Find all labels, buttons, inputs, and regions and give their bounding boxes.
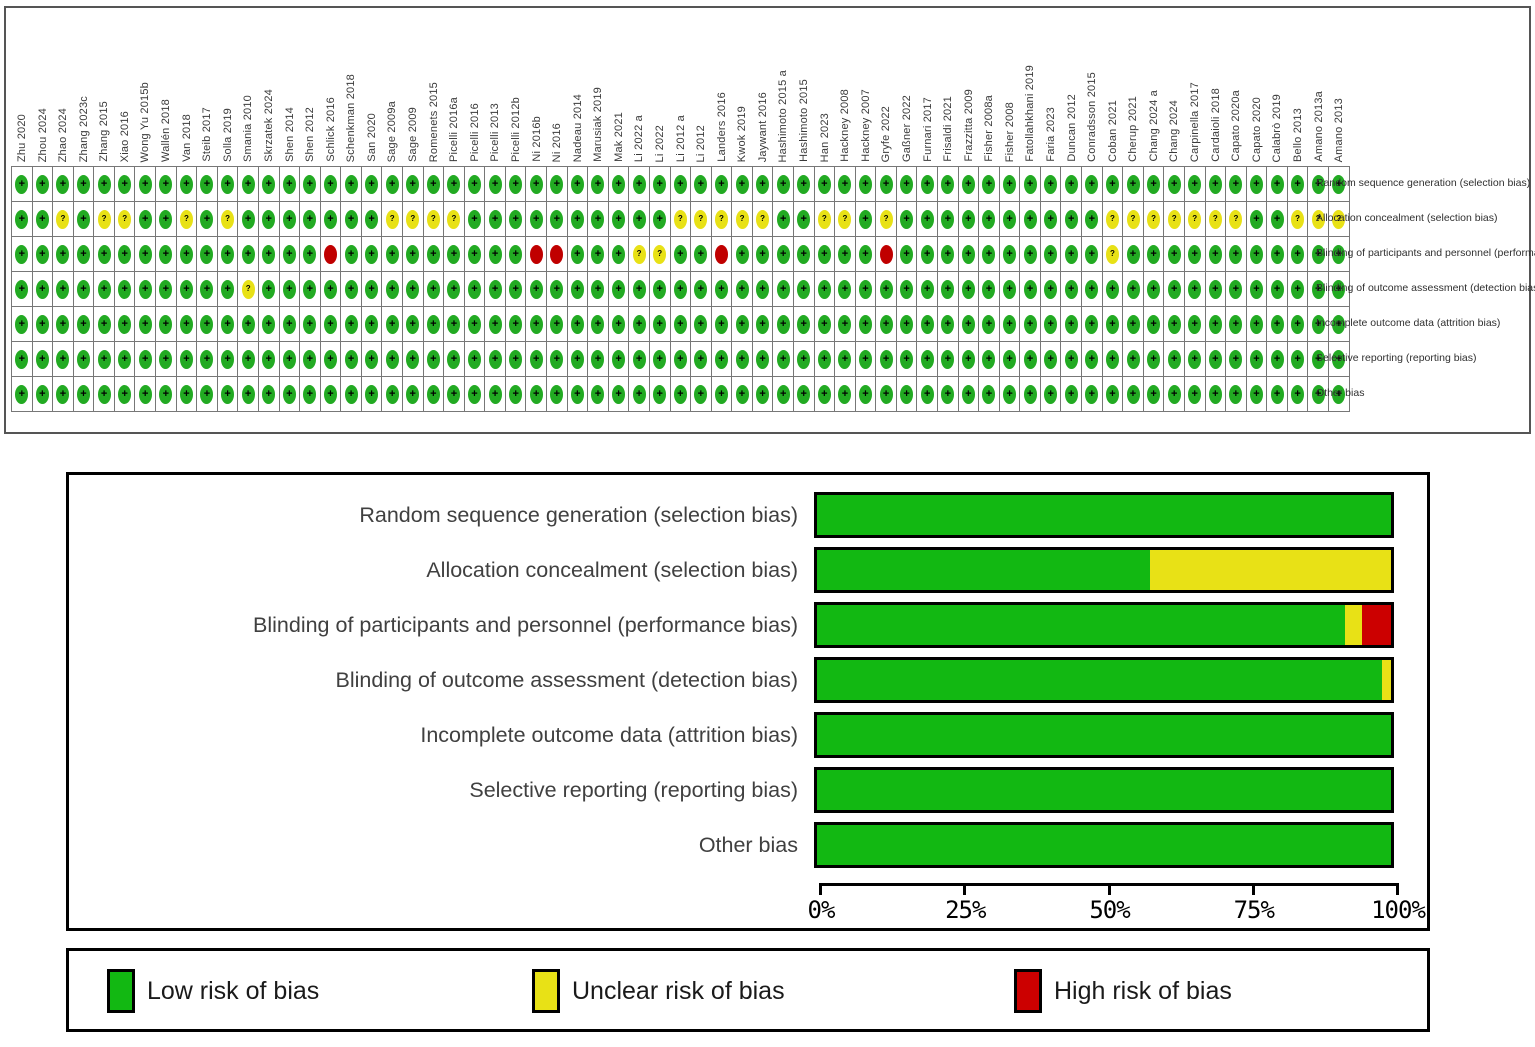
rob-cell[interactable]: + — [341, 342, 362, 377]
rob-cell[interactable]: + — [1267, 202, 1288, 237]
rob-cell[interactable]: + — [1061, 377, 1082, 412]
rob-cell[interactable]: + — [341, 272, 362, 307]
rob-cell[interactable]: + — [856, 377, 877, 412]
rob-cell[interactable]: + — [1185, 167, 1206, 202]
rob-cell[interactable]: + — [526, 307, 547, 342]
rob-cell[interactable]: + — [94, 167, 115, 202]
rob-cell[interactable]: ? — [1103, 237, 1124, 272]
rob-cell[interactable]: + — [1206, 307, 1227, 342]
rob-cell[interactable] — [547, 237, 568, 272]
rob-cell[interactable]: + — [568, 342, 589, 377]
rob-cell[interactable]: + — [341, 167, 362, 202]
rob-cell[interactable]: + — [712, 377, 733, 412]
rob-cell[interactable]: ? — [424, 202, 445, 237]
rob-cell[interactable]: + — [1247, 167, 1268, 202]
rob-cell[interactable]: + — [1247, 272, 1268, 307]
rob-cell[interactable]: + — [979, 272, 1000, 307]
rob-cell[interactable]: + — [547, 377, 568, 412]
rob-cell[interactable]: + — [588, 377, 609, 412]
rob-cell[interactable]: ? — [753, 202, 774, 237]
rob-cell[interactable]: + — [897, 342, 918, 377]
rob-cell[interactable]: + — [341, 307, 362, 342]
rob-cell[interactable]: + — [650, 307, 671, 342]
rob-cell[interactable]: + — [156, 272, 177, 307]
rob-cell[interactable]: + — [588, 342, 609, 377]
rob-cell[interactable]: + — [1226, 237, 1247, 272]
rob-cell[interactable]: + — [33, 307, 54, 342]
rob-cell[interactable]: + — [876, 307, 897, 342]
rob-cell[interactable]: + — [568, 167, 589, 202]
rob-cell[interactable]: + — [382, 272, 403, 307]
rob-cell[interactable]: + — [218, 342, 239, 377]
rob-cell[interactable]: + — [362, 377, 383, 412]
rob-cell[interactable]: + — [753, 237, 774, 272]
rob-cell[interactable]: + — [218, 237, 239, 272]
rob-cell[interactable]: + — [1082, 167, 1103, 202]
rob-cell[interactable]: + — [280, 377, 301, 412]
rob-cell[interactable]: + — [1041, 237, 1062, 272]
rob-cell[interactable]: ? — [238, 272, 259, 307]
rob-cell[interactable]: + — [1185, 272, 1206, 307]
rob-cell[interactable]: ? — [218, 202, 239, 237]
rob-cell[interactable]: + — [1226, 342, 1247, 377]
rob-cell[interactable]: + — [773, 342, 794, 377]
rob-cell[interactable]: + — [979, 237, 1000, 272]
rob-cell[interactable]: + — [650, 377, 671, 412]
rob-cell[interactable]: + — [280, 272, 301, 307]
rob-cell[interactable]: + — [156, 237, 177, 272]
rob-cell[interactable]: + — [815, 377, 836, 412]
rob-cell[interactable]: + — [424, 342, 445, 377]
rob-cell[interactable]: + — [444, 167, 465, 202]
rob-cell[interactable]: + — [94, 377, 115, 412]
rob-cell[interactable]: + — [465, 167, 486, 202]
rob-cell[interactable]: + — [712, 342, 733, 377]
rob-cell[interactable]: + — [794, 342, 815, 377]
rob-cell[interactable]: + — [1123, 167, 1144, 202]
rob-cell[interactable]: + — [568, 307, 589, 342]
rob-cell[interactable]: + — [712, 272, 733, 307]
rob-cell[interactable]: + — [815, 307, 836, 342]
rob-cell[interactable]: + — [465, 342, 486, 377]
rob-cell[interactable]: + — [794, 307, 815, 342]
rob-cell[interactable]: + — [1226, 167, 1247, 202]
rob-cell[interactable]: + — [815, 272, 836, 307]
rob-cell[interactable]: + — [1000, 272, 1021, 307]
rob-cell[interactable]: + — [1267, 342, 1288, 377]
rob-cell[interactable]: + — [362, 202, 383, 237]
rob-cell[interactable]: ? — [1144, 202, 1165, 237]
rob-cell[interactable]: ? — [1206, 202, 1227, 237]
rob-cell[interactable]: + — [177, 342, 198, 377]
rob-cell[interactable]: + — [547, 167, 568, 202]
rob-cell[interactable]: + — [1164, 377, 1185, 412]
rob-cell[interactable]: + — [341, 377, 362, 412]
rob-cell[interactable]: + — [547, 202, 568, 237]
rob-cell[interactable]: + — [979, 167, 1000, 202]
rob-cell[interactable]: + — [1020, 377, 1041, 412]
rob-cell[interactable]: + — [773, 167, 794, 202]
rob-cell[interactable]: + — [424, 377, 445, 412]
rob-cell[interactable]: + — [197, 272, 218, 307]
rob-cell[interactable]: + — [444, 307, 465, 342]
rob-cell[interactable]: + — [238, 167, 259, 202]
rob-cell[interactable]: + — [74, 167, 95, 202]
rob-cell[interactable]: + — [1000, 307, 1021, 342]
rob-cell[interactable]: + — [300, 307, 321, 342]
rob-cell[interactable]: + — [588, 237, 609, 272]
rob-cell[interactable]: + — [94, 272, 115, 307]
rob-cell[interactable]: + — [1226, 377, 1247, 412]
rob-cell[interactable]: + — [1041, 342, 1062, 377]
rob-cell[interactable]: + — [33, 342, 54, 377]
rob-cell[interactable]: + — [444, 377, 465, 412]
rob-cell[interactable]: + — [177, 237, 198, 272]
rob-cell[interactable]: + — [444, 272, 465, 307]
rob-cell[interactable]: + — [650, 342, 671, 377]
rob-cell[interactable]: + — [424, 167, 445, 202]
rob-cell[interactable]: + — [568, 377, 589, 412]
rob-cell[interactable]: + — [238, 237, 259, 272]
rob-cell[interactable]: + — [382, 167, 403, 202]
rob-cell[interactable]: + — [1247, 202, 1268, 237]
rob-cell[interactable]: + — [1267, 167, 1288, 202]
rob-cell[interactable]: + — [959, 342, 980, 377]
rob-cell[interactable]: + — [856, 202, 877, 237]
rob-cell[interactable]: + — [33, 377, 54, 412]
rob-cell[interactable]: + — [835, 342, 856, 377]
rob-cell[interactable]: + — [609, 307, 630, 342]
rob-cell[interactable]: + — [1020, 272, 1041, 307]
rob-cell[interactable] — [876, 237, 897, 272]
rob-cell[interactable]: + — [856, 272, 877, 307]
rob-cell[interactable]: + — [12, 272, 33, 307]
rob-cell[interactable]: + — [959, 272, 980, 307]
rob-cell[interactable]: + — [12, 237, 33, 272]
rob-cell[interactable]: + — [218, 272, 239, 307]
rob-cell[interactable]: + — [238, 307, 259, 342]
rob-cell[interactable]: + — [1041, 272, 1062, 307]
rob-cell[interactable]: + — [444, 342, 465, 377]
rob-cell[interactable]: + — [156, 202, 177, 237]
rob-cell[interactable]: + — [218, 377, 239, 412]
rob-cell[interactable]: + — [53, 167, 74, 202]
rob-cell[interactable]: + — [773, 202, 794, 237]
rob-cell[interactable]: + — [362, 272, 383, 307]
rob-cell[interactable]: + — [917, 167, 938, 202]
rob-cell[interactable]: + — [280, 307, 301, 342]
rob-cell[interactable]: + — [1041, 202, 1062, 237]
rob-cell[interactable]: + — [321, 167, 342, 202]
rob-cell[interactable]: + — [794, 167, 815, 202]
rob-cell[interactable]: + — [1000, 167, 1021, 202]
rob-cell[interactable]: + — [1206, 272, 1227, 307]
rob-cell[interactable]: ? — [650, 237, 671, 272]
rob-cell[interactable]: + — [506, 202, 527, 237]
rob-cell[interactable]: + — [1288, 342, 1309, 377]
rob-cell[interactable]: + — [300, 272, 321, 307]
rob-cell[interactable]: + — [979, 342, 1000, 377]
rob-cell[interactable]: + — [341, 202, 362, 237]
rob-cell[interactable]: + — [609, 237, 630, 272]
rob-cell[interactable]: + — [74, 377, 95, 412]
rob-cell[interactable]: + — [526, 377, 547, 412]
rob-cell[interactable]: + — [815, 237, 836, 272]
rob-cell[interactable]: + — [526, 167, 547, 202]
rob-cell[interactable]: + — [1061, 167, 1082, 202]
rob-cell[interactable]: + — [444, 237, 465, 272]
rob-cell[interactable]: + — [1226, 272, 1247, 307]
rob-cell[interactable]: ? — [815, 202, 836, 237]
rob-cell[interactable]: + — [979, 307, 1000, 342]
rob-cell[interactable]: + — [794, 237, 815, 272]
rob-cell[interactable]: + — [485, 167, 506, 202]
rob-cell[interactable]: ? — [876, 202, 897, 237]
rob-cell[interactable]: + — [609, 342, 630, 377]
rob-cell[interactable]: + — [1288, 272, 1309, 307]
rob-cell[interactable]: + — [382, 307, 403, 342]
rob-cell[interactable]: + — [280, 237, 301, 272]
rob-cell[interactable]: + — [650, 272, 671, 307]
rob-cell[interactable]: + — [1020, 237, 1041, 272]
rob-cell[interactable]: + — [1103, 167, 1124, 202]
rob-cell[interactable]: + — [1164, 307, 1185, 342]
rob-cell[interactable]: + — [403, 307, 424, 342]
rob-cell[interactable]: + — [321, 307, 342, 342]
rob-cell[interactable]: + — [33, 272, 54, 307]
rob-cell[interactable]: + — [568, 272, 589, 307]
rob-cell[interactable]: ? — [732, 202, 753, 237]
rob-cell[interactable]: + — [465, 272, 486, 307]
rob-cell[interactable]: + — [732, 272, 753, 307]
rob-cell[interactable]: + — [1247, 307, 1268, 342]
rob-cell[interactable]: + — [115, 377, 136, 412]
rob-cell[interactable]: + — [1000, 377, 1021, 412]
rob-cell[interactable]: + — [1103, 307, 1124, 342]
rob-cell[interactable]: + — [74, 307, 95, 342]
rob-cell[interactable]: + — [300, 377, 321, 412]
rob-cell[interactable]: + — [135, 167, 156, 202]
rob-cell[interactable]: + — [835, 167, 856, 202]
rob-cell[interactable]: + — [938, 342, 959, 377]
rob-cell[interactable]: + — [1247, 237, 1268, 272]
rob-cell[interactable]: + — [1206, 342, 1227, 377]
rob-cell[interactable]: + — [115, 307, 136, 342]
rob-cell[interactable]: + — [1288, 307, 1309, 342]
rob-cell[interactable]: ? — [403, 202, 424, 237]
rob-cell[interactable]: + — [856, 237, 877, 272]
rob-cell[interactable]: + — [403, 377, 424, 412]
rob-cell[interactable]: ? — [691, 202, 712, 237]
rob-cell[interactable]: + — [362, 307, 383, 342]
rob-cell[interactable]: + — [794, 202, 815, 237]
rob-cell[interactable]: + — [671, 167, 692, 202]
rob-cell[interactable]: + — [135, 307, 156, 342]
rob-cell[interactable]: + — [1020, 307, 1041, 342]
rob-cell[interactable]: + — [1000, 202, 1021, 237]
rob-cell[interactable]: + — [959, 237, 980, 272]
rob-cell[interactable]: + — [753, 342, 774, 377]
rob-cell[interactable]: + — [1123, 272, 1144, 307]
rob-cell[interactable]: + — [959, 167, 980, 202]
rob-cell[interactable]: + — [609, 272, 630, 307]
rob-cell[interactable]: + — [33, 202, 54, 237]
rob-cell[interactable]: + — [1164, 272, 1185, 307]
rob-cell[interactable]: + — [321, 342, 342, 377]
rob-cell[interactable]: ? — [1226, 202, 1247, 237]
rob-cell[interactable]: + — [94, 307, 115, 342]
rob-cell[interactable]: + — [650, 202, 671, 237]
rob-cell[interactable]: + — [177, 377, 198, 412]
rob-cell[interactable]: + — [629, 202, 650, 237]
rob-cell[interactable]: + — [691, 342, 712, 377]
rob-cell[interactable]: ? — [53, 202, 74, 237]
rob-cell[interactable]: + — [856, 167, 877, 202]
rob-cell[interactable]: + — [938, 237, 959, 272]
rob-cell[interactable]: + — [156, 167, 177, 202]
rob-cell[interactable]: + — [1185, 237, 1206, 272]
rob-cell[interactable]: + — [547, 342, 568, 377]
rob-cell[interactable]: + — [526, 342, 547, 377]
rob-cell[interactable]: + — [12, 377, 33, 412]
rob-cell[interactable]: + — [156, 377, 177, 412]
rob-cell[interactable]: + — [917, 272, 938, 307]
rob-cell[interactable]: + — [506, 272, 527, 307]
rob-cell[interactable]: + — [588, 167, 609, 202]
rob-cell[interactable]: + — [238, 342, 259, 377]
rob-cell[interactable]: + — [671, 237, 692, 272]
rob-cell[interactable]: + — [1226, 307, 1247, 342]
rob-cell[interactable]: + — [465, 202, 486, 237]
rob-cell[interactable]: + — [959, 202, 980, 237]
rob-cell[interactable]: + — [547, 307, 568, 342]
rob-cell[interactable]: ? — [444, 202, 465, 237]
rob-cell[interactable]: + — [53, 272, 74, 307]
rob-cell[interactable]: + — [876, 377, 897, 412]
rob-cell[interactable]: + — [794, 377, 815, 412]
rob-cell[interactable]: + — [259, 167, 280, 202]
rob-cell[interactable]: + — [341, 237, 362, 272]
rob-cell[interactable]: + — [135, 237, 156, 272]
rob-cell[interactable]: + — [1103, 342, 1124, 377]
rob-cell[interactable]: + — [403, 272, 424, 307]
rob-cell[interactable]: + — [300, 237, 321, 272]
rob-cell[interactable]: + — [897, 167, 918, 202]
rob-cell[interactable]: + — [1000, 237, 1021, 272]
rob-cell[interactable]: + — [177, 167, 198, 202]
rob-cell[interactable]: + — [897, 272, 918, 307]
rob-cell[interactable]: + — [568, 202, 589, 237]
rob-cell[interactable]: + — [1103, 377, 1124, 412]
rob-cell[interactable]: + — [33, 167, 54, 202]
rob-cell[interactable]: + — [609, 377, 630, 412]
rob-cell[interactable]: + — [115, 167, 136, 202]
rob-cell[interactable]: + — [773, 307, 794, 342]
rob-cell[interactable]: + — [403, 237, 424, 272]
rob-cell[interactable]: + — [897, 307, 918, 342]
rob-cell[interactable]: ? — [671, 202, 692, 237]
rob-cell[interactable]: + — [465, 307, 486, 342]
rob-cell[interactable]: + — [1267, 307, 1288, 342]
rob-cell[interactable]: + — [424, 307, 445, 342]
rob-cell[interactable]: + — [1267, 237, 1288, 272]
rob-cell[interactable]: + — [1164, 237, 1185, 272]
rob-cell[interactable]: + — [53, 342, 74, 377]
rob-cell[interactable]: + — [197, 167, 218, 202]
rob-cell[interactable]: + — [135, 272, 156, 307]
rob-cell[interactable]: + — [1206, 377, 1227, 412]
rob-cell[interactable]: + — [197, 307, 218, 342]
rob-cell[interactable]: + — [12, 202, 33, 237]
rob-cell[interactable]: + — [1123, 342, 1144, 377]
rob-cell[interactable]: + — [979, 377, 1000, 412]
rob-cell[interactable]: + — [917, 202, 938, 237]
rob-cell[interactable]: + — [835, 272, 856, 307]
rob-cell[interactable]: + — [1020, 167, 1041, 202]
rob-cell[interactable]: + — [732, 167, 753, 202]
rob-cell[interactable]: + — [485, 342, 506, 377]
rob-cell[interactable]: + — [12, 307, 33, 342]
rob-cell[interactable]: + — [1082, 237, 1103, 272]
rob-cell[interactable]: + — [1041, 307, 1062, 342]
rob-cell[interactable]: + — [362, 237, 383, 272]
rob-cell[interactable]: + — [671, 272, 692, 307]
rob-cell[interactable]: + — [773, 237, 794, 272]
rob-cell[interactable]: + — [53, 307, 74, 342]
rob-cell[interactable]: + — [1185, 377, 1206, 412]
rob-cell[interactable]: + — [506, 237, 527, 272]
rob-cell[interactable]: + — [1288, 377, 1309, 412]
rob-cell[interactable]: + — [691, 377, 712, 412]
rob-cell[interactable]: + — [650, 167, 671, 202]
rob-cell[interactable]: + — [753, 272, 774, 307]
rob-cell[interactable]: + — [629, 342, 650, 377]
rob-cell[interactable]: + — [1288, 167, 1309, 202]
rob-cell[interactable]: + — [1144, 272, 1165, 307]
rob-cell[interactable]: + — [1164, 342, 1185, 377]
rob-cell[interactable]: + — [362, 342, 383, 377]
rob-cell[interactable]: + — [485, 202, 506, 237]
rob-cell[interactable]: + — [856, 342, 877, 377]
rob-cell[interactable]: + — [382, 342, 403, 377]
rob-cell[interactable]: + — [506, 342, 527, 377]
rob-cell[interactable]: + — [135, 342, 156, 377]
rob-cell[interactable]: + — [135, 202, 156, 237]
rob-cell[interactable]: + — [1267, 272, 1288, 307]
rob-cell[interactable]: + — [321, 202, 342, 237]
rob-cell[interactable]: + — [115, 272, 136, 307]
rob-cell[interactable]: + — [1144, 307, 1165, 342]
rob-cell[interactable]: ? — [1164, 202, 1185, 237]
rob-cell[interactable]: + — [197, 377, 218, 412]
rob-cell[interactable]: + — [12, 342, 33, 377]
rob-cell[interactable]: + — [876, 342, 897, 377]
rob-cell[interactable]: + — [1061, 307, 1082, 342]
rob-cell[interactable]: + — [1144, 237, 1165, 272]
rob-cell[interactable]: + — [547, 272, 568, 307]
rob-cell[interactable]: + — [259, 237, 280, 272]
rob-cell[interactable]: + — [526, 202, 547, 237]
rob-cell[interactable]: + — [177, 272, 198, 307]
rob-cell[interactable]: + — [259, 307, 280, 342]
rob-cell[interactable]: + — [1082, 377, 1103, 412]
rob-cell[interactable]: + — [732, 307, 753, 342]
rob-cell[interactable]: + — [609, 202, 630, 237]
rob-cell[interactable]: + — [835, 237, 856, 272]
rob-cell[interactable]: + — [938, 272, 959, 307]
rob-cell[interactable]: + — [897, 237, 918, 272]
rob-cell[interactable]: + — [1082, 202, 1103, 237]
